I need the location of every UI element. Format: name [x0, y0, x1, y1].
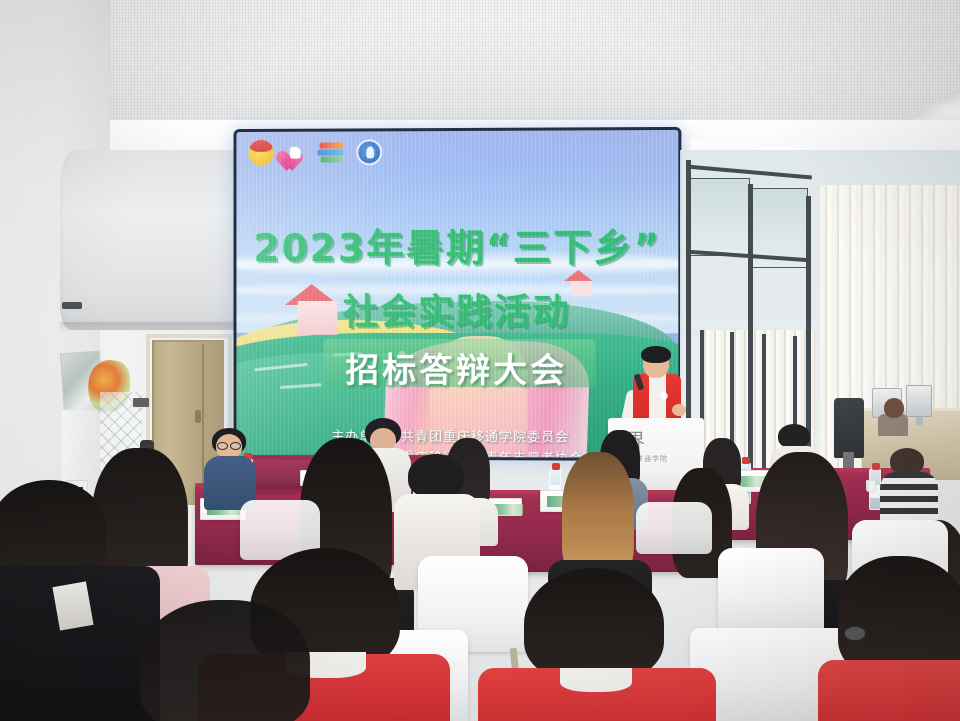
led-video-wall: 2023年暑期“三下乡” 社会实践活动 招标答辩大会 主办单位：共青团重庆移通学… [234, 127, 682, 461]
hair [140, 600, 310, 721]
screen-title-line-1: 2023年暑期“三下乡” [236, 217, 678, 273]
screen-title-line-3: 招标答辩大会 [236, 343, 678, 393]
conference-room: 2023年暑期“三下乡” 社会实践活动 招标答辩大会 主办单位：共青团重庆移通学… [0, 0, 960, 721]
monitor-stand [916, 417, 923, 425]
youth-volunteer-circle-badge-icon [356, 139, 382, 165]
screen-logo-row [248, 139, 382, 165]
hair [778, 424, 810, 448]
eyeglasses [230, 442, 241, 450]
red-vest-torso [818, 660, 960, 721]
tricolor-flag-ribbon-icon [318, 140, 348, 164]
speaker-hand [672, 404, 686, 416]
shirt-collar [52, 581, 93, 630]
window-mullion [748, 184, 753, 474]
office-staff-head [884, 398, 904, 418]
glass-transom-panel [690, 178, 750, 256]
office-monitor [906, 385, 932, 417]
conference-chair[interactable] [636, 502, 712, 554]
conference-chair[interactable] [718, 548, 824, 638]
window-mullion [762, 334, 766, 480]
eyeglasses [217, 442, 228, 450]
light-switch[interactable] [133, 398, 149, 407]
vest-collar [560, 668, 632, 692]
eyeglasses [844, 626, 866, 641]
screen-title-line-2: 社会实践活动 [236, 283, 678, 335]
speaker-hair [641, 346, 671, 363]
event-photo-scene: 2023年暑期“三下乡” 社会实践活动 招标答辩大会 主办单位：共青团重庆移通学… [0, 0, 960, 721]
communist-youth-league-emblem-icon [248, 140, 274, 166]
hair [838, 556, 960, 676]
volunteer-heart-hand-icon [283, 141, 309, 165]
hair [890, 448, 924, 474]
office-chair [834, 398, 864, 458]
door-handle[interactable] [195, 410, 201, 423]
hair [0, 480, 106, 580]
hair [524, 568, 664, 680]
dark-bracket [62, 302, 82, 309]
paper-cup[interactable] [866, 480, 876, 492]
hair [408, 454, 464, 498]
